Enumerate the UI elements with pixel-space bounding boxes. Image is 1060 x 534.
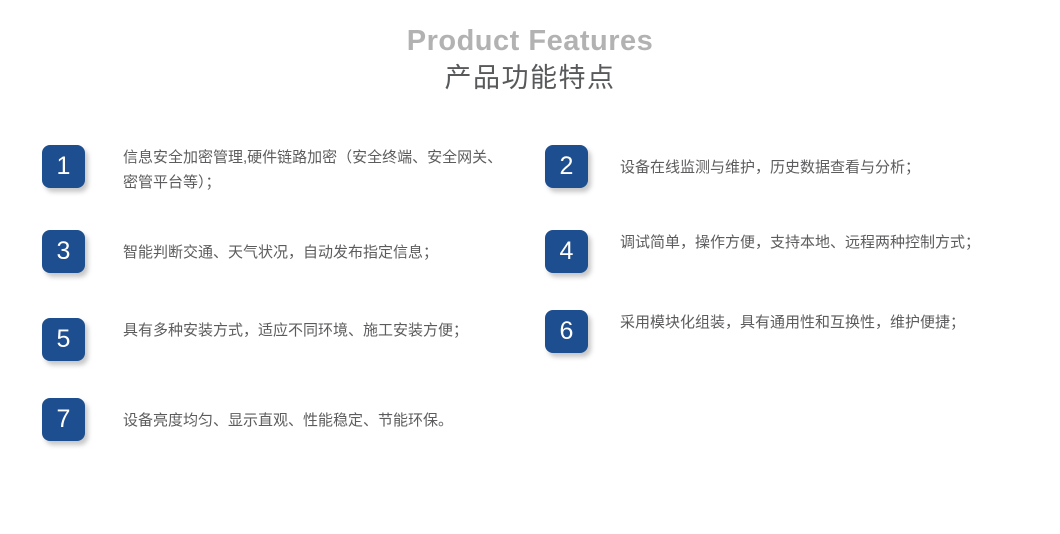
- feature-text: 调试简单，操作方便，支持本地、远程两种控制方式；: [620, 230, 1020, 255]
- page-title-chinese: 产品功能特点: [0, 60, 1060, 96]
- feature-number-badge: 2: [545, 145, 588, 188]
- feature-text: 采用模块化组装，具有通用性和互换性，维护便捷；: [620, 310, 1020, 335]
- feature-number-badge: 6: [545, 310, 588, 353]
- feature-number-badge: 5: [42, 318, 85, 361]
- list-item: 4 调试简单，操作方便，支持本地、远程两种控制方式；: [545, 230, 1045, 273]
- feature-number-badge: 7: [42, 398, 85, 441]
- page-title: Product Features 产品功能特点: [0, 24, 1060, 97]
- list-item: 3 智能判断交通、天气状况，自动发布指定信息；: [42, 230, 512, 273]
- list-item: 2 设备在线监测与维护，历史数据查看与分析；: [545, 145, 1045, 188]
- list-item: 6 采用模块化组装，具有通用性和互换性，维护便捷；: [545, 310, 1045, 353]
- feature-number-badge: 4: [545, 230, 588, 273]
- page-title-english: Product Features: [0, 24, 1060, 58]
- feature-list: 1 信息安全加密管理,硬件链路加密（安全终端、安全网关、密管平台等）； 2 设备…: [0, 132, 1060, 462]
- feature-number-badge: 3: [42, 230, 85, 273]
- feature-text: 设备在线监测与维护，历史数据查看与分析；: [620, 145, 1040, 180]
- feature-text: 具有多种安装方式，适应不同环境、施工安装方便；: [123, 318, 503, 343]
- feature-number-badge: 1: [42, 145, 85, 188]
- list-item: 5 具有多种安装方式，适应不同环境、施工安装方便；: [42, 318, 512, 361]
- feature-text: 信息安全加密管理,硬件链路加密（安全终端、安全网关、密管平台等）；: [123, 145, 512, 195]
- list-item: 7 设备亮度均匀、显示直观、性能稳定、节能环保。: [42, 398, 542, 441]
- feature-text: 设备亮度均匀、显示直观、性能稳定、节能环保。: [123, 398, 542, 433]
- list-item: 1 信息安全加密管理,硬件链路加密（安全终端、安全网关、密管平台等）；: [42, 145, 512, 195]
- slide-canvas: Product Features 产品功能特点 1 信息安全加密管理,硬件链路加…: [0, 0, 1060, 534]
- feature-text: 智能判断交通、天气状况，自动发布指定信息；: [123, 230, 512, 265]
